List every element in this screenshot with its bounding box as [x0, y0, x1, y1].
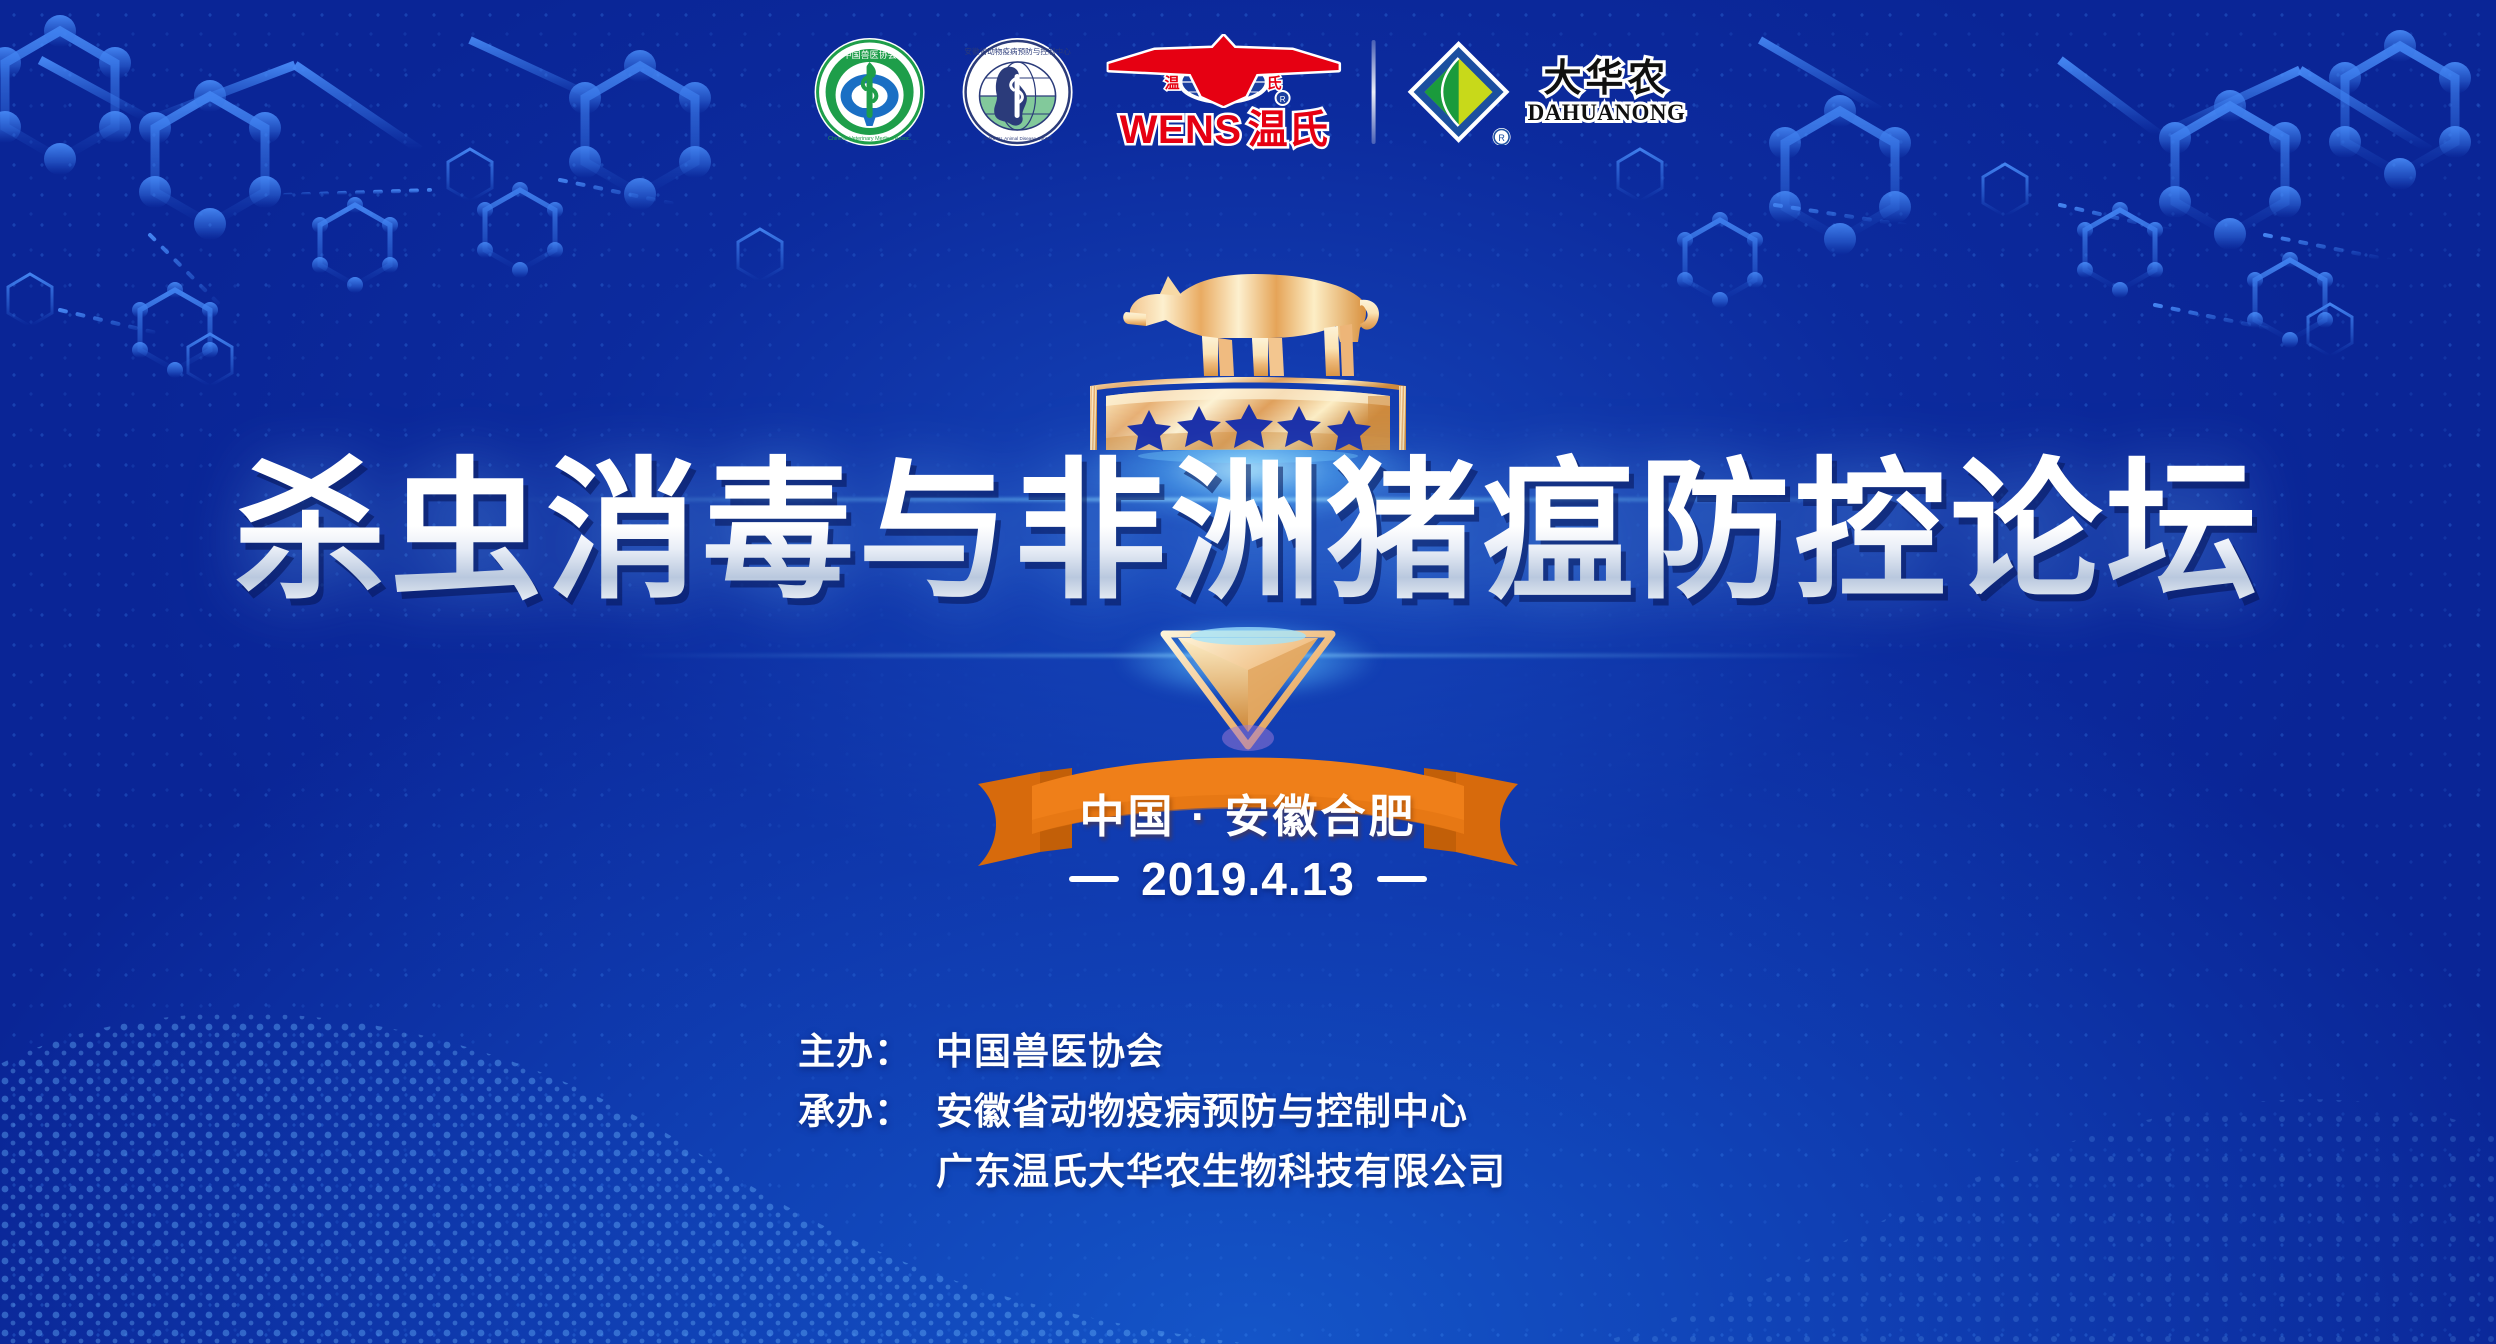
svg-text:安徽省动物疫病预防与控制中心: 安徽省动物疫病预防与控制中心 — [964, 46, 1071, 56]
logo-divider — [1372, 40, 1376, 144]
dahuanong-wordmark-en: DAHUANONG — [1528, 101, 1686, 124]
event-poster: 中国兽医协会 Chinese Veterinary Medical Assoc. — [0, 0, 2496, 1344]
organizer-value-coorganizer-2: 广东温氏大华农生物科技有限公司 — [936, 1142, 1698, 1202]
svg-text:温: 温 — [1165, 74, 1180, 92]
dahuanong-diamond-icon: R — [1406, 39, 1512, 145]
golden-pig-trophy-emblem — [1068, 214, 1428, 464]
svg-text:中国兽医协会: 中国兽医协会 — [843, 49, 897, 61]
organizer-list: 主办： 中国兽医协会 承办： 安徽省动物疫病预防与控制中心 承办： 广东温氏大华… — [798, 1022, 1698, 1202]
logo-wens: 温 氏 R WENS 温氏 — [1107, 34, 1342, 150]
svg-text:R: R — [1280, 95, 1286, 104]
wens-wordmark-cn: 温氏 — [1248, 110, 1329, 150]
organizer-value-host: 中国兽医协会 — [936, 1022, 1698, 1082]
svg-text:Anhui Ctr. Animal Disease Cont: Anhui Ctr. Animal Disease Control — [983, 136, 1052, 141]
organizer-row-host: 主办： 中国兽医协会 — [798, 1022, 1698, 1082]
logo-anhui-animal-disease-control-center: 安徽省动物疫病预防与控制中心 Anhui Ctr. Animal Disease… — [959, 34, 1077, 150]
sponsor-logo-strip: 中国兽医协会 Chinese Veterinary Medical Assoc. — [811, 34, 1686, 150]
location-ribbon-text: 中国 · 安徽合肥 — [968, 780, 1528, 845]
organizer-row-coorganizer-1: 承办： 安徽省动物疫病预防与控制中心 — [798, 1082, 1698, 1142]
svg-text:R: R — [1498, 133, 1505, 143]
date-rule-left — [1069, 876, 1119, 882]
dahuanong-wordmark-cn: 大华农 — [1543, 60, 1669, 98]
organizer-label-coorganizer: 承办： — [798, 1082, 936, 1142]
logo-dahuanong: R 大华农 DAHUANONG — [1406, 34, 1686, 150]
wens-wordmark-en: WENS — [1120, 110, 1242, 150]
logo-chinese-veterinary-medical-association: 中国兽医协会 Chinese Veterinary Medical Assoc. — [811, 34, 929, 150]
organizer-label-host: 主办： — [798, 1022, 936, 1082]
page-title: 杀虫消毒与非洲猪瘟防控论坛 — [0, 452, 2496, 613]
anhui-cadc-seal-icon: 安徽省动物疫病预防与控制中心 Anhui Ctr. Animal Disease… — [959, 34, 1077, 150]
organizer-row-coorganizer-2: 承办： 广东温氏大华农生物科技有限公司 — [798, 1142, 1698, 1202]
cvma-seal-icon: 中国兽医协会 Chinese Veterinary Medical Assoc. — [811, 34, 929, 150]
wens-eagle-globe-icon: 温 氏 R — [1107, 34, 1342, 108]
dahuanong-wordmark: 大华农 DAHUANONG — [1528, 60, 1686, 124]
svg-text:氏: 氏 — [1267, 74, 1282, 92]
event-date-text: 2019.4.13 — [1141, 852, 1355, 906]
wens-wordmark: WENS 温氏 — [1120, 110, 1329, 150]
organizer-value-coorganizer-1: 安徽省动物疫病预防与控制中心 — [936, 1082, 1698, 1142]
svg-text:Chinese Veterinary Medical Ass: Chinese Veterinary Medical Assoc. — [828, 136, 911, 142]
event-date: 2019.4.13 — [0, 852, 2496, 906]
date-rule-right — [1377, 876, 1427, 882]
